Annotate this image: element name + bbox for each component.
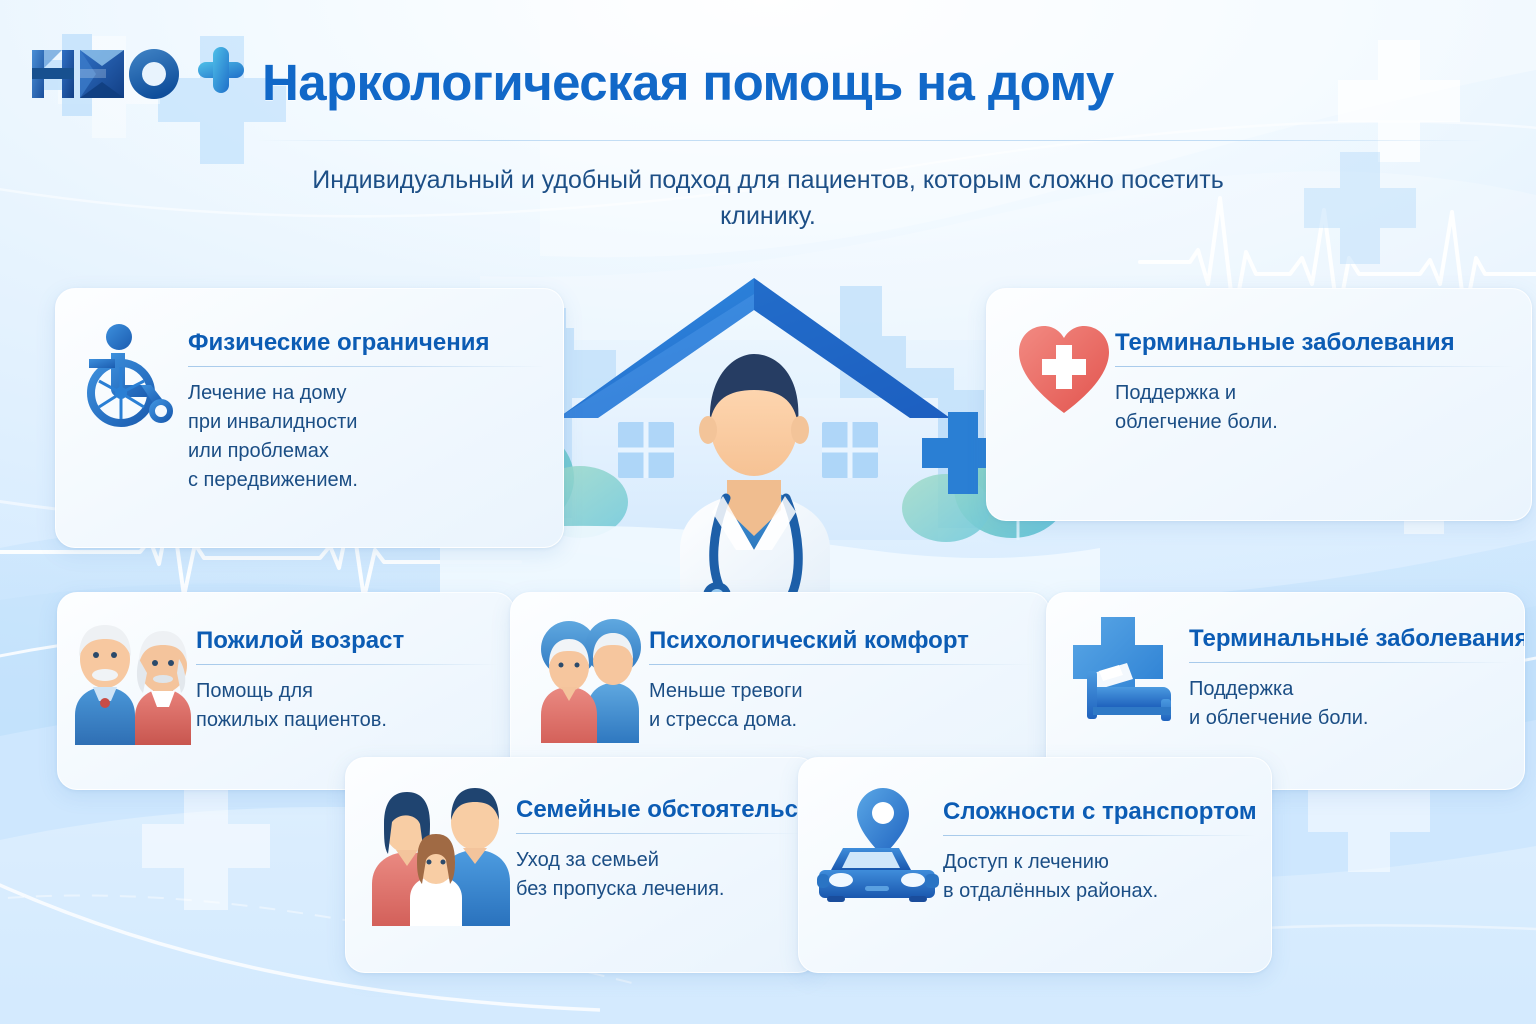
car-pin-icon (815, 786, 943, 910)
card-title: Сложности с транспортом (943, 798, 1255, 826)
card-description: Лечение на дому при инвалидности или про… (188, 379, 545, 495)
card-divider (943, 835, 1255, 836)
card-title: Терминальные заболевания (1115, 329, 1513, 357)
card-description: Помощь для пожилых пациентов. (196, 677, 498, 735)
card-description: Поддержка и облегчение боли. (1189, 675, 1510, 733)
card-divider (1115, 366, 1513, 367)
card-title: Семейные обстоятельства (516, 796, 801, 824)
card-title: Терминальные́ заболевания (1189, 625, 1510, 653)
card-divider (196, 664, 498, 665)
elderly-couple-icon (68, 613, 196, 745)
heart-cross-icon (1013, 321, 1115, 419)
card-description: Поддержка и облегчение боли. (1115, 379, 1513, 437)
card-body: Семейные обстоятельства Уход за семьей б… (516, 772, 801, 904)
page-subtitle: Индивидуальный и удобный подход для паци… (268, 162, 1268, 234)
card-body: Физические ограничения Лечение на дому п… (188, 307, 545, 495)
card-divider (649, 664, 1033, 665)
logo-letter-n (32, 50, 74, 98)
neo-plus-logo[interactable] (18, 28, 268, 128)
card-body: Психологический комфорт Меньше тревоги и… (649, 607, 1033, 735)
card-transport-difficulties[interactable]: Сложности с транспортом Доступ к лечению… (798, 757, 1272, 973)
card-divider (188, 366, 545, 367)
family-icon (364, 778, 516, 926)
card-family-circumstances[interactable]: Семейные обстоятельства Уход за семьей б… (345, 757, 818, 973)
page-header: Наркологическая помощь на дому (0, 0, 1536, 150)
card-body: Сложности с транспортом Доступ к лечению… (943, 772, 1255, 906)
hospital-bed-cross-icon (1067, 613, 1189, 731)
card-body: Терминальные заболевания Поддержка и обл… (1115, 307, 1513, 437)
card-title: Психологический комфорт (649, 627, 1033, 655)
card-description: Доступ к лечению в отдалённых районах. (943, 848, 1255, 906)
infographic-canvas: Наркологическая помощь на дому Индивидуа… (0, 0, 1536, 1024)
card-description: Меньше тревоги и стресса дома. (649, 677, 1033, 735)
wheelchair-icon (78, 319, 188, 429)
logo-plus-icon (198, 47, 244, 93)
logo-letter-e (80, 50, 124, 98)
card-terminal-illness-heart[interactable]: Терминальные заболевания Поддержка и обл… (986, 288, 1532, 521)
card-description: Уход за семьей без пропуска лечения. (516, 846, 801, 904)
card-title: Пожилой возраст (196, 627, 498, 655)
two-people-icon (533, 615, 649, 743)
logo-letter-o (129, 49, 179, 99)
card-title: Физические ограничения (188, 329, 545, 357)
card-divider (516, 833, 801, 834)
header-divider (255, 140, 1485, 141)
card-body: Терминальные́ заболевания Поддержка и об… (1189, 607, 1510, 733)
card-body: Пожилой возраст Помощь для пожилых пацие… (196, 607, 498, 735)
card-physical-limitations[interactable]: Физические ограничения Лечение на дому п… (55, 288, 564, 548)
page-title: Наркологическая помощь на дому (262, 54, 1262, 112)
card-divider (1189, 662, 1510, 663)
